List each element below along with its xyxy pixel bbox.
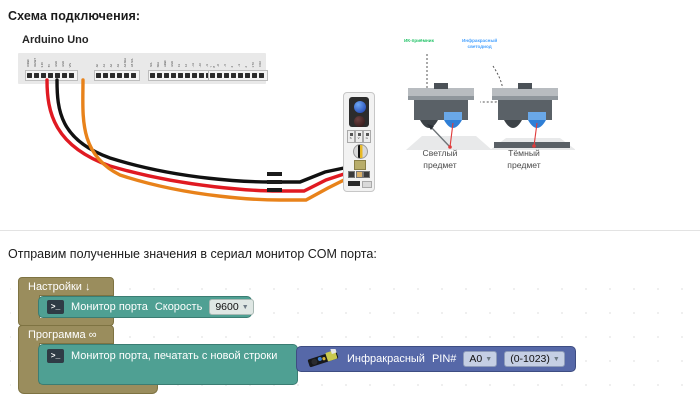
sensor-lens-housing (349, 97, 369, 127)
terminal-icon: >_ (47, 349, 64, 363)
sensor-ic2-icon (362, 181, 372, 188)
pin-dropdown-value: A0 (469, 353, 482, 365)
sensor-pin: G (363, 130, 371, 143)
chevron-down-icon: ▼ (485, 356, 492, 363)
range-dropdown-value: (0-1023) (510, 353, 550, 365)
arduino-pin-label: ~3 (239, 64, 242, 67)
arduino-pin (252, 73, 257, 78)
arduino-pin-label: ~6 (218, 64, 221, 67)
arduino-pin-label: A3 (118, 64, 121, 67)
figure-label-led: Инфракрасный светодиод (462, 38, 497, 49)
speed-dropdown-value: 9600 (215, 301, 238, 313)
block-program-hat[interactable]: Программа ∞ (18, 325, 114, 344)
arduino-pin-group-analog: A0A1A2A3A4 SDAA5 SCL (94, 70, 140, 81)
block-serial-monitor[interactable]: >_ Монитор порта Скорость 9600 ▼ (38, 296, 252, 318)
arduino-pin-group-digital-low: 7~6~54~321 TX0 RX (208, 70, 268, 81)
arduino-pin (245, 73, 250, 78)
speed-field-label: Скорость (155, 301, 203, 313)
section-divider (0, 230, 700, 231)
arduino-pin (103, 73, 108, 78)
block-settings-hat-label: Настройки ↓ (28, 281, 91, 293)
arduino-pin-label: A4 SDA (125, 58, 128, 67)
arduino-pin (55, 73, 60, 78)
chevron-down-icon: ▼ (553, 356, 560, 363)
pin-field-label: PIN# (432, 353, 456, 365)
arduino-pin (199, 73, 204, 78)
arduino-pin-label: GND (56, 61, 59, 67)
arduino-pin-group-power: IOREFRESET3.3V5VGNDGNDVIN (25, 70, 78, 81)
arduino-pin (117, 73, 122, 78)
arduino-pin (34, 73, 39, 78)
range-dropdown[interactable]: (0-1023) ▼ (504, 351, 565, 367)
arduino-pin (124, 73, 129, 78)
arduino-pin-label: A5 SCL (132, 58, 135, 67)
arduino-pin-label: A1 (104, 64, 107, 67)
arduino-pin (157, 73, 162, 78)
arduino-pin (185, 73, 190, 78)
sensor-ic-icon (348, 181, 360, 186)
pin-dropdown[interactable]: A0 ▼ (463, 351, 497, 367)
arduino-pin-label: 13 (179, 64, 182, 67)
arduino-pin-label: ~5 (225, 64, 228, 67)
speed-dropdown[interactable]: 9600 ▼ (209, 299, 253, 315)
block-ir-sensor-label: Инфракрасный (347, 353, 425, 365)
sensor-smd-row (348, 171, 370, 176)
sensor-chip-icon (354, 160, 366, 170)
arduino-pin (231, 73, 236, 78)
sensor-pin-label: G (366, 136, 368, 140)
arduino-pin-label: 5V (49, 64, 52, 67)
arduino-pin-label: SDA (158, 62, 161, 67)
sensor-pin-label: V (358, 136, 360, 140)
arduino-board: IOREFRESET3.3V5VGNDGNDVIN A0A1A2A3A4 SDA… (18, 53, 266, 84)
arduino-pin-label: ~11 (193, 63, 196, 67)
arduino-pin-label: ~10 (200, 63, 203, 67)
chevron-down-icon: ▼ (242, 304, 249, 311)
arduino-pin-label: SCL (151, 62, 154, 67)
block-program-hat-label: Программа ∞ (28, 329, 97, 341)
arduino-pin-label: 2 (246, 66, 249, 67)
arduino-pin (131, 73, 136, 78)
arduino-pin (150, 73, 155, 78)
caption-light-object: Светлый предмет (400, 148, 480, 171)
arduino-pin (48, 73, 53, 78)
arduino-pin-label: RESET (35, 58, 38, 67)
sensor-pin-header: SVG (347, 130, 371, 141)
arduino-pin (41, 73, 46, 78)
arduino-pin (210, 73, 215, 78)
block-serial-print[interactable]: >_ Монитор порта, печатать с новой строк… (38, 344, 298, 385)
ir-module-icon (306, 349, 340, 369)
block-ir-sensor[interactable]: Инфракрасный PIN# A0 ▼ (0-1023) ▼ (296, 346, 576, 372)
block-settings-arm (18, 295, 40, 319)
page-root: Схема подключения: Arduino Uno IOREFRESE… (0, 0, 700, 407)
ir-led-icon (354, 101, 366, 113)
arduino-pin-label: 12 (186, 64, 189, 67)
arduino-pin-label: 4 (232, 66, 235, 67)
arduino-pin (238, 73, 243, 78)
arduino-pin (178, 73, 183, 78)
block-program-foot (18, 384, 158, 394)
ir-sensor-module: SVG (343, 92, 375, 192)
ir-receiver-icon (354, 116, 365, 127)
terminal-icon: >_ (47, 300, 64, 314)
block-serial-monitor-label: Монитор порта (71, 301, 148, 313)
arduino-pin (217, 73, 222, 78)
board-label: Arduino Uno (22, 34, 89, 46)
arduino-pin-label: 1 TX (253, 62, 256, 67)
arduino-pin-label: GND (172, 61, 175, 67)
sensor-pin: V (355, 130, 363, 143)
arduino-pin (164, 73, 169, 78)
arduino-pin-label: VIN (70, 63, 73, 67)
arduino-pin (96, 73, 101, 78)
arduino-pin (110, 73, 115, 78)
caption-dark-object: Тёмный предмет (484, 148, 564, 171)
block-settings-hat[interactable]: Настройки ↓ (18, 277, 114, 296)
sensor-pin-label: S (350, 136, 352, 140)
arduino-pin-label: 0 RX (260, 61, 263, 67)
arduino-pin-label: A2 (111, 64, 114, 67)
section2-title: Отправим полученные значения в сериал мо… (8, 247, 377, 261)
blocks-canvas[interactable]: Настройки ↓ >_ Монитор порта Скорость 96… (10, 268, 700, 407)
arduino-pin (27, 73, 32, 78)
arduino-pin-label: 3.3V (42, 62, 45, 67)
figure-label-receiver: ИК-приёмник (404, 38, 434, 44)
arduino-pin-label: A0 (97, 64, 100, 67)
figure-graphics (400, 50, 575, 160)
arduino-pin (224, 73, 229, 78)
arduino-pin (62, 73, 67, 78)
sensor-pin: S (347, 130, 355, 143)
block-program-arm (18, 343, 40, 385)
arduino-pin (259, 73, 264, 78)
arduino-pin-label: GND (63, 61, 66, 67)
arduino-pin (69, 73, 74, 78)
ir-principle-figure: ИК-приёмник Инфракрасный светодиод (400, 36, 575, 176)
page-title: Схема подключения: (8, 9, 140, 23)
arduino-pin (171, 73, 176, 78)
arduino-pin-label: AREF (165, 60, 168, 67)
block-serial-print-label: Монитор порта, печатать с новой строки (71, 350, 277, 362)
arduino-pin-label: IOREF (28, 59, 31, 67)
arduino-pin (192, 73, 197, 78)
arduino-pin-label: 7 (211, 66, 214, 67)
potentiometer-icon (353, 144, 368, 159)
